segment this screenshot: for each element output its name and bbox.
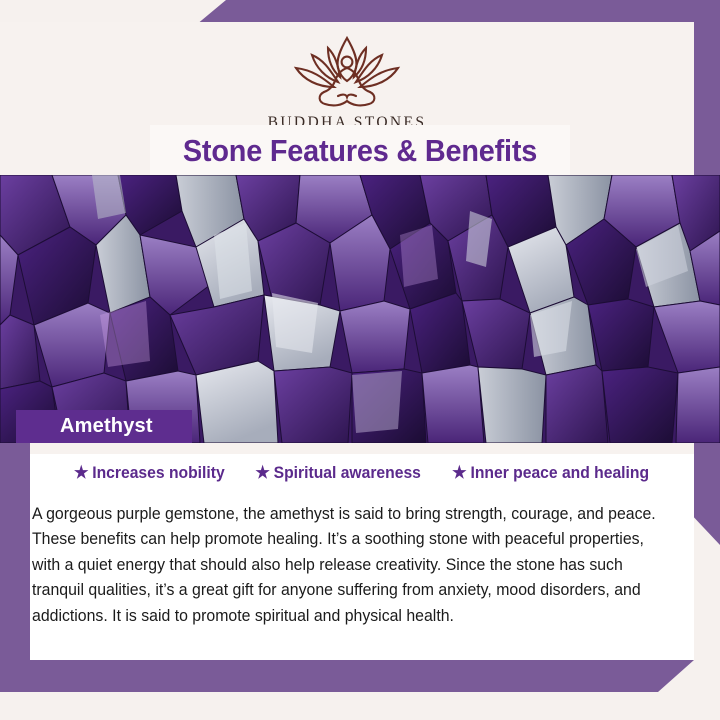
panel-top-tint [30, 443, 694, 454]
infographic-card: BUDDHA STONES Stone Features & Benefits [0, 0, 720, 720]
stone-name-bar: Amethyst [16, 410, 192, 443]
star-icon: ★ [255, 464, 269, 481]
left-purple-band [0, 436, 30, 692]
benefit-label: Spiritual awareness [273, 464, 420, 483]
benefit-label: Inner peace and healing [470, 464, 649, 483]
content-panel: ★ Increases nobility ★ Spiritual awarene… [30, 443, 694, 660]
description-text: A gorgeous purple gemstone, the amethyst… [32, 501, 662, 628]
benefits-list: ★ Increases nobility ★ Spiritual awarene… [30, 464, 694, 483]
star-icon: ★ [452, 464, 466, 481]
amethyst-photo [0, 175, 720, 443]
page-title: Stone Features & Benefits [165, 126, 556, 176]
benefit-item: ★ Inner peace and healing [452, 464, 649, 483]
star-icon: ★ [74, 464, 88, 481]
header: BUDDHA STONES Stone Features & Benefits [0, 22, 694, 175]
bottom-purple-band [0, 660, 694, 692]
benefit-label: Increases nobility [92, 464, 224, 483]
amethyst-crystal-cluster-illustration [0, 175, 720, 443]
brand-logo: BUDDHA STONES [0, 32, 694, 132]
benefit-item: ★ Increases nobility [74, 464, 225, 483]
stone-name-label: Amethyst [60, 410, 153, 443]
lotus-meditation-icon [272, 32, 422, 112]
benefit-item: ★ Spiritual awareness [255, 464, 421, 483]
